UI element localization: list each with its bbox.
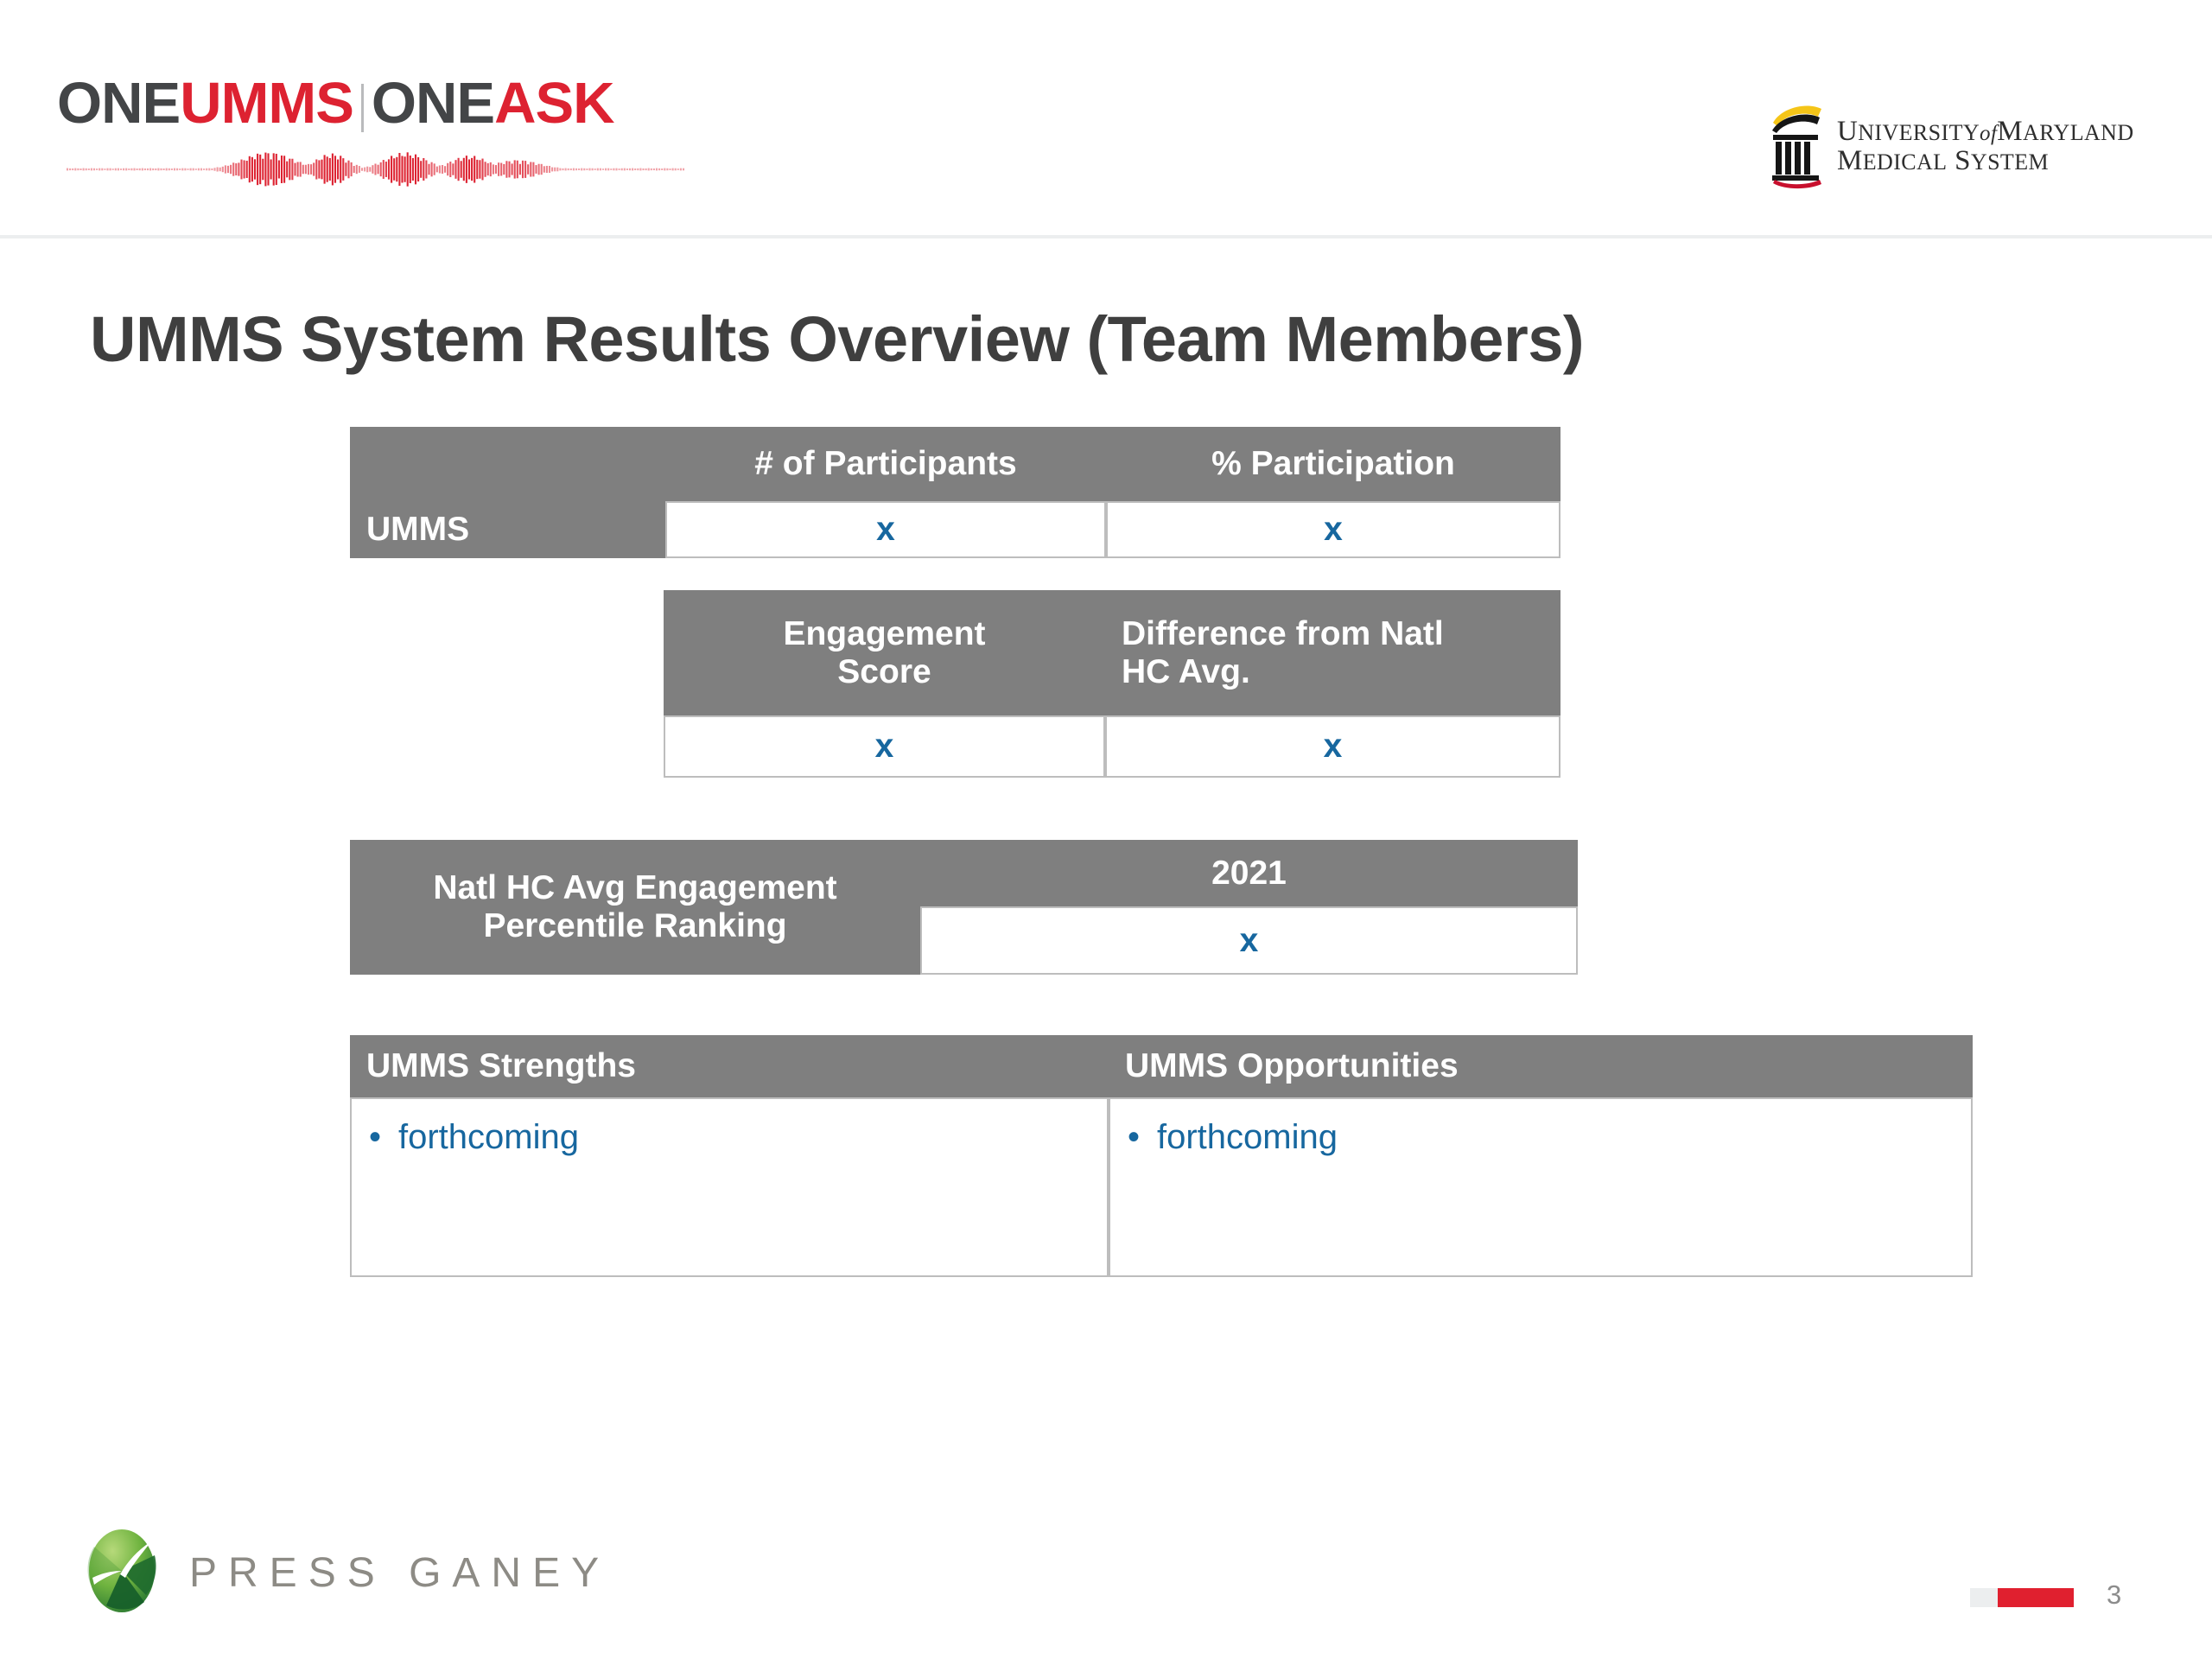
press-ganey-leaf-icon xyxy=(82,1528,162,1614)
logo-segment-one-2: ONE xyxy=(372,71,494,136)
engagement-value-difference: x xyxy=(1105,715,1560,778)
logo-divider-bar xyxy=(361,84,364,132)
page-number: 3 xyxy=(2107,1580,2121,1611)
one-ask-wordmark: ONEUMMSONEASK xyxy=(57,74,714,132)
strength-text: forthcoming xyxy=(398,1118,579,1156)
header-umms-opportunities: UMMS Opportunities xyxy=(1109,1035,1973,1097)
logo-segment-ask: ASK xyxy=(494,71,613,136)
press-ganey-logo: PRESS GANEY xyxy=(82,1528,704,1623)
strengths-body: • forthcoming xyxy=(350,1097,1109,1277)
header-divider xyxy=(0,235,2212,238)
umms-logo-text: UNIVERSITYofMARYLAND MEDICAL SYSTEM xyxy=(1837,118,2134,175)
percentile-value: x xyxy=(920,906,1578,975)
header-umms-strengths: UMMS Strengths xyxy=(350,1035,1109,1097)
bullet-icon: • xyxy=(369,1118,398,1156)
logo-segment-umms: UMMS xyxy=(180,71,353,136)
column-emblem-icon xyxy=(1770,104,1827,190)
university-of-maryland-medical-system-logo: UNIVERSITYofMARYLAND MEDICAL SYSTEM xyxy=(1770,104,2133,194)
logo-segment-one-1: ONE xyxy=(57,71,180,136)
list-item: • forthcoming xyxy=(352,1099,1107,1156)
progress-track xyxy=(1970,1588,1998,1607)
participation-row-label-umms: UMMS xyxy=(350,501,665,558)
list-item: • forthcoming xyxy=(1110,1099,1971,1156)
progress-fill xyxy=(1998,1588,2074,1607)
participation-corner-cell xyxy=(350,427,665,501)
one-umms-one-ask-logo: ONEUMMSONEASK xyxy=(57,74,714,187)
bullet-icon: • xyxy=(1128,1118,1157,1156)
progress-indicator xyxy=(1970,1588,2074,1607)
waveform-icon xyxy=(57,150,696,188)
press-ganey-wordmark: PRESS GANEY xyxy=(189,1549,610,1597)
page-title: UMMS System Results Overview (Team Membe… xyxy=(90,302,1584,376)
participation-header-participants: # of Participants xyxy=(665,427,1106,501)
umms-logo-line-1: UNIVERSITYofMARYLAND xyxy=(1837,118,2134,147)
engagement-header-difference: Difference from Natl HC Avg. xyxy=(1105,590,1560,715)
percentile-row-label: Natl HC Avg Engagement Percentile Rankin… xyxy=(350,840,920,975)
participation-header-percent: % Participation xyxy=(1106,427,1560,501)
participation-value-percent: x xyxy=(1106,501,1560,558)
engagement-value-score: x xyxy=(664,715,1105,778)
engagement-header-score: Engagement Score xyxy=(664,590,1105,715)
opportunities-body: • forthcoming xyxy=(1109,1097,1973,1277)
percentile-header-year: 2021 xyxy=(920,840,1578,906)
participation-value-participants: x xyxy=(665,501,1106,558)
umms-logo-line-2: MEDICAL SYSTEM xyxy=(1837,147,2134,176)
opportunity-text: forthcoming xyxy=(1157,1118,1338,1156)
slide: ONEUMMSONEASK UNIVERSITYofMARYLAND MEDIC… xyxy=(0,0,2212,1659)
